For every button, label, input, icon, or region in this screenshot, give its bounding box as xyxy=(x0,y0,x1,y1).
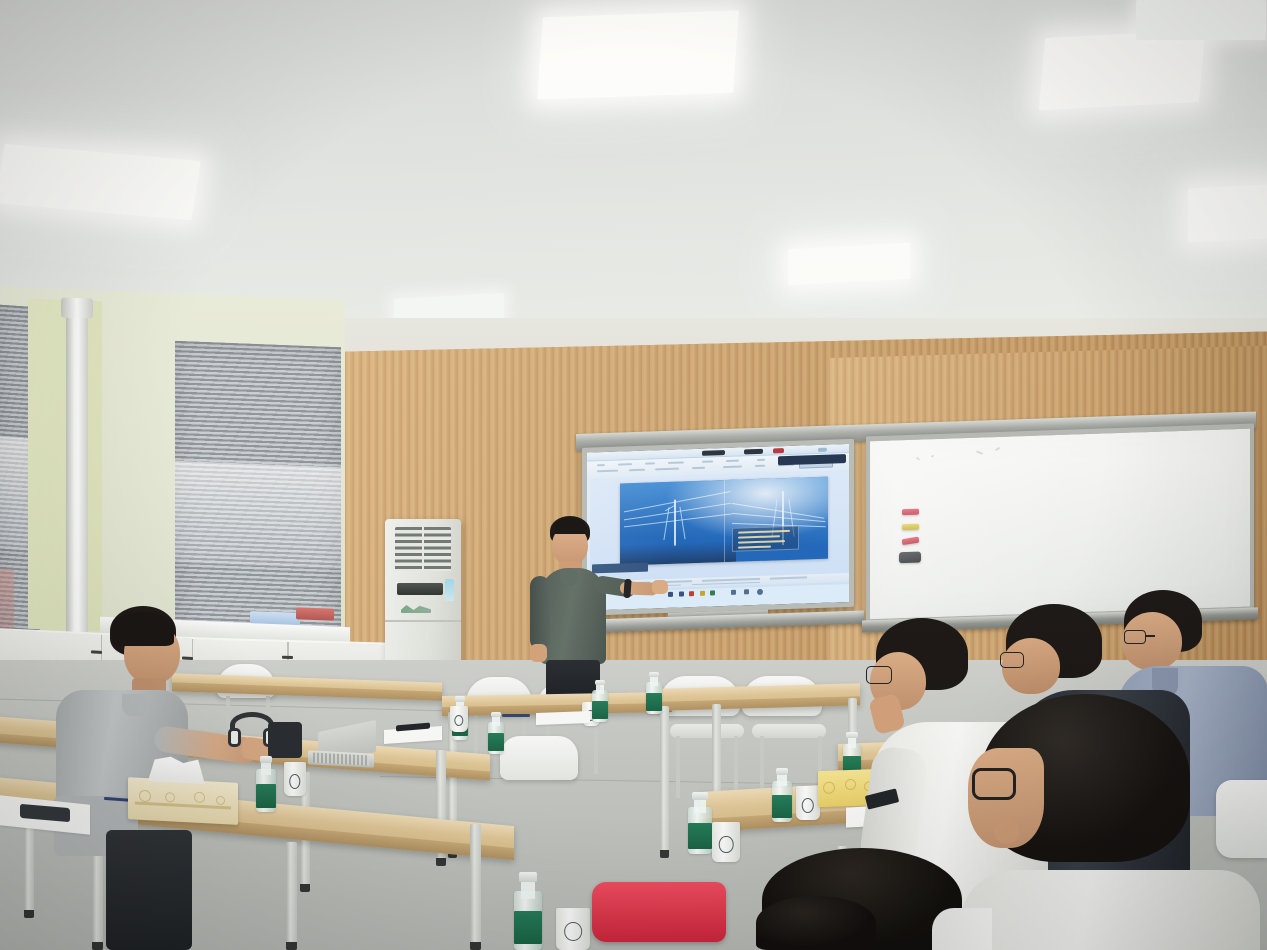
water-bottle-3[interactable] xyxy=(592,680,608,722)
sill-folder-red xyxy=(296,607,334,620)
venetian-blind-center[interactable] xyxy=(175,341,341,647)
magnet-red-lower[interactable] xyxy=(902,537,920,546)
paper-cup-1[interactable] xyxy=(284,762,306,796)
slide-caption-block xyxy=(732,525,799,552)
chair-seat-3[interactable] xyxy=(670,724,744,738)
water-bottle-5[interactable] xyxy=(488,712,504,754)
attendee-foreground-glasses xyxy=(960,694,1260,950)
presenter-collar xyxy=(560,570,578,586)
panel-light-lower-center xyxy=(1136,0,1266,40)
attendee-fg-torso xyxy=(960,870,1260,950)
presentation-slide xyxy=(620,477,828,566)
paper-cup-5[interactable] xyxy=(712,822,740,862)
table-leg xyxy=(660,706,669,858)
panel-light-top-right xyxy=(1188,183,1267,242)
table-leg xyxy=(470,824,481,950)
ac-vent-grille xyxy=(395,527,451,571)
ac-control-strip[interactable] xyxy=(445,579,454,601)
water-bottle-7[interactable] xyxy=(772,768,792,822)
water-bottle-1[interactable] xyxy=(256,756,276,812)
paper-cup-4[interactable] xyxy=(796,786,820,820)
magnet-red-top[interactable] xyxy=(902,509,919,516)
presenter-wristband xyxy=(623,579,631,598)
table-leg xyxy=(24,818,34,918)
transmission-tower-left xyxy=(674,500,676,546)
attendee-bottom-left-hair xyxy=(756,896,876,950)
meeting-room-photo xyxy=(0,0,1267,950)
table-leg xyxy=(286,842,297,950)
attendee-fgb-shoulder xyxy=(932,908,992,950)
magnet-yellow[interactable] xyxy=(902,523,919,530)
chair-leg xyxy=(676,736,680,798)
panel-light-mid-center xyxy=(788,243,910,285)
slide-photo-divider xyxy=(724,480,725,562)
attendee-left-hairtop xyxy=(112,612,174,646)
glasses-icon xyxy=(972,768,1016,800)
tissue-box-floral[interactable] xyxy=(128,777,238,825)
table-leg xyxy=(92,856,103,950)
folded-red-jacket[interactable] xyxy=(592,882,726,942)
chair-leg xyxy=(760,736,764,792)
presenter-hand xyxy=(652,580,668,594)
presenter-hairline xyxy=(555,518,585,534)
ac-brand-graphic xyxy=(401,605,431,613)
panel-light-mid-right xyxy=(1039,30,1205,111)
presenter-left-arm xyxy=(530,576,550,650)
attendee-left-collar xyxy=(122,694,150,716)
yellow-wall-pier xyxy=(28,299,102,632)
chair-leg xyxy=(734,736,738,798)
eraser-black[interactable] xyxy=(899,552,921,564)
slide-treeline xyxy=(620,540,736,565)
water-bottle-8[interactable] xyxy=(688,792,712,854)
chair-back-5[interactable] xyxy=(500,736,578,780)
paper-cup-6[interactable] xyxy=(556,908,590,950)
floor-standing-air-conditioner[interactable] xyxy=(385,519,461,675)
ac-display-panel xyxy=(397,583,443,595)
glasses-icon xyxy=(866,666,892,684)
attendee-left-legs xyxy=(106,830,192,950)
paper-cup-2[interactable] xyxy=(450,706,468,732)
presenter xyxy=(524,516,634,706)
panel-light-top-left xyxy=(0,144,201,220)
attendee-bottom-left-partial xyxy=(756,896,876,950)
laptop-bag[interactable] xyxy=(268,722,302,758)
pen-mid[interactable] xyxy=(502,714,530,717)
panel-light-top-center xyxy=(537,10,739,99)
water-bottle-9[interactable] xyxy=(514,872,542,950)
water-bottle-4[interactable] xyxy=(646,672,662,714)
presenter-left-hand xyxy=(530,644,547,662)
handout-paper-mid[interactable] xyxy=(536,711,590,725)
attendee-fg-ear xyxy=(994,818,1020,844)
